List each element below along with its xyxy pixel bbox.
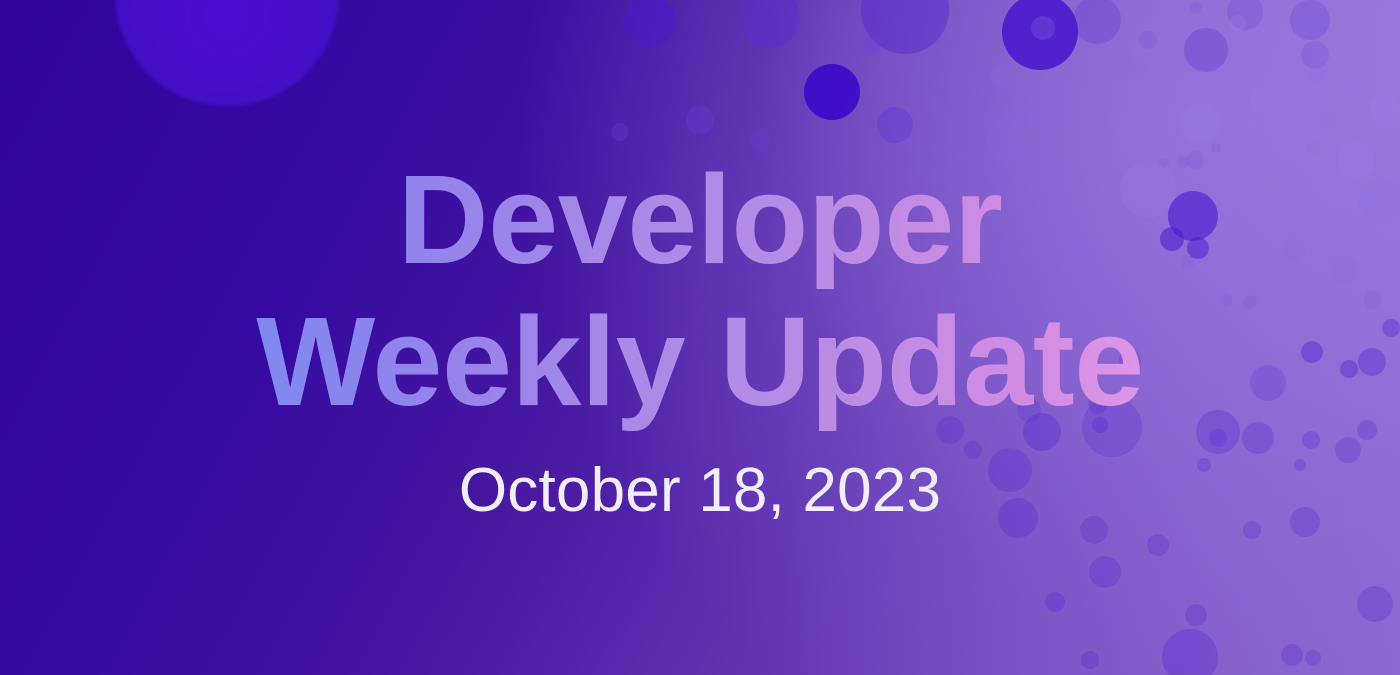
title-line-2: Weekly Update — [256, 291, 1144, 433]
developer-weekly-update-banner: Developer Weekly Update October 18, 2023 — [0, 0, 1400, 675]
banner-date: October 18, 2023 — [459, 455, 941, 526]
page-title: Developer Weekly Update — [256, 149, 1144, 434]
banner-content: Developer Weekly Update October 18, 2023 — [0, 0, 1400, 675]
title-line-1: Developer — [256, 149, 1144, 291]
